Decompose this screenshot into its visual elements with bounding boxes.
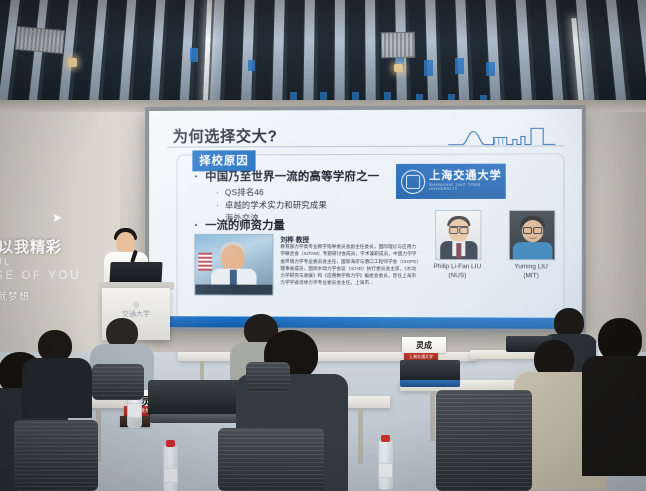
professor-photo: [194, 234, 273, 296]
chair-right[interactable]: [436, 390, 532, 491]
portrait-a-affiliation: (NUS): [448, 272, 466, 279]
ceiling-vent-right: [381, 32, 415, 59]
projection-screen: 为何选择交大? 择校原因 中国乃至世界一流的高等学府之一 QS排名46 卓越的学…: [149, 109, 582, 329]
namecard-back: 灵成: [402, 337, 446, 353]
sjtu-name-en: SHANGHAI JIAO TONG UNIVERSITY: [429, 184, 506, 191]
sjtu-logo-text: 上海交通大学 SHANGHAI JIAO TONG UNIVERSITY: [429, 171, 506, 191]
professor-bio: 教育部力学类专业教学指导委员会副主任委员，国际理论与应用力学联合会（IUTAM）…: [280, 243, 420, 287]
chair-back-right[interactable]: [246, 362, 290, 392]
laptop-right-base: [400, 380, 460, 387]
bird-icon: ➤: [45, 212, 69, 224]
portrait-b-affiliation: (MIT): [523, 272, 538, 279]
wall-slogan-line1: UL: [0, 256, 114, 268]
sjtu-logo: 上海交通大学 SHANGHAI JIAO TONG UNIVERSITY: [396, 164, 506, 199]
chair-center[interactable]: [218, 428, 324, 491]
bullet-primary: 中国乃至世界一流的高等学府之一: [194, 168, 423, 184]
wall-slogan-line3: 成就梦想: [0, 288, 106, 303]
ceiling-spot-right: [394, 64, 403, 72]
wall-slogan: 青春以我精彩: [0, 236, 86, 257]
chair-left[interactable]: [14, 420, 98, 491]
laptop-mid-base: [150, 414, 242, 423]
ceiling-vent-left: [15, 26, 65, 54]
ceiling-spot-left: [68, 58, 77, 67]
ceiling: [0, 0, 646, 104]
screenshot-root: ➤ 青春以我精彩 UL AUSE OF YOU 成就梦想 为何选择交大? 择校原…: [0, 0, 646, 491]
slide-title: 为何选择交大?: [173, 124, 278, 146]
bullet-sub-qs: QS排名46: [216, 186, 423, 198]
podium-laptop: [109, 262, 162, 284]
portrait-yuming-liu: Yuming LIU (MIT): [509, 210, 565, 281]
chair-back-mid[interactable]: [92, 364, 144, 400]
portrait-a-name: Philip Li-Fan LIU: [434, 263, 482, 270]
laptop-right: [400, 360, 460, 382]
namecard-back-text: 灵成: [416, 340, 432, 351]
slide-bottom-bar: [149, 316, 582, 329]
portrait-philip-liu: Philip Li-Fan LIU (NUS): [435, 210, 490, 281]
projection-screen-frame: 为何选择交大? 择校原因 中国乃至世界一流的高等学府之一 QS排名46 卓越的学…: [145, 105, 586, 333]
sjtu-name-cn: 上海交通大学: [429, 171, 506, 182]
water-bottle-front: [163, 445, 178, 491]
laptop-mid: [148, 380, 242, 416]
university-seal-icon: [401, 169, 425, 193]
bullet-faculty: 一流的师资力量: [194, 217, 284, 233]
portrait-b-name: Yuming LIU: [514, 263, 547, 270]
water-bottle-right: [378, 440, 393, 490]
bullet-sub-academics: 卓越的学术实力和研究成果: [216, 199, 423, 211]
city-skyline-icon: [446, 125, 557, 148]
